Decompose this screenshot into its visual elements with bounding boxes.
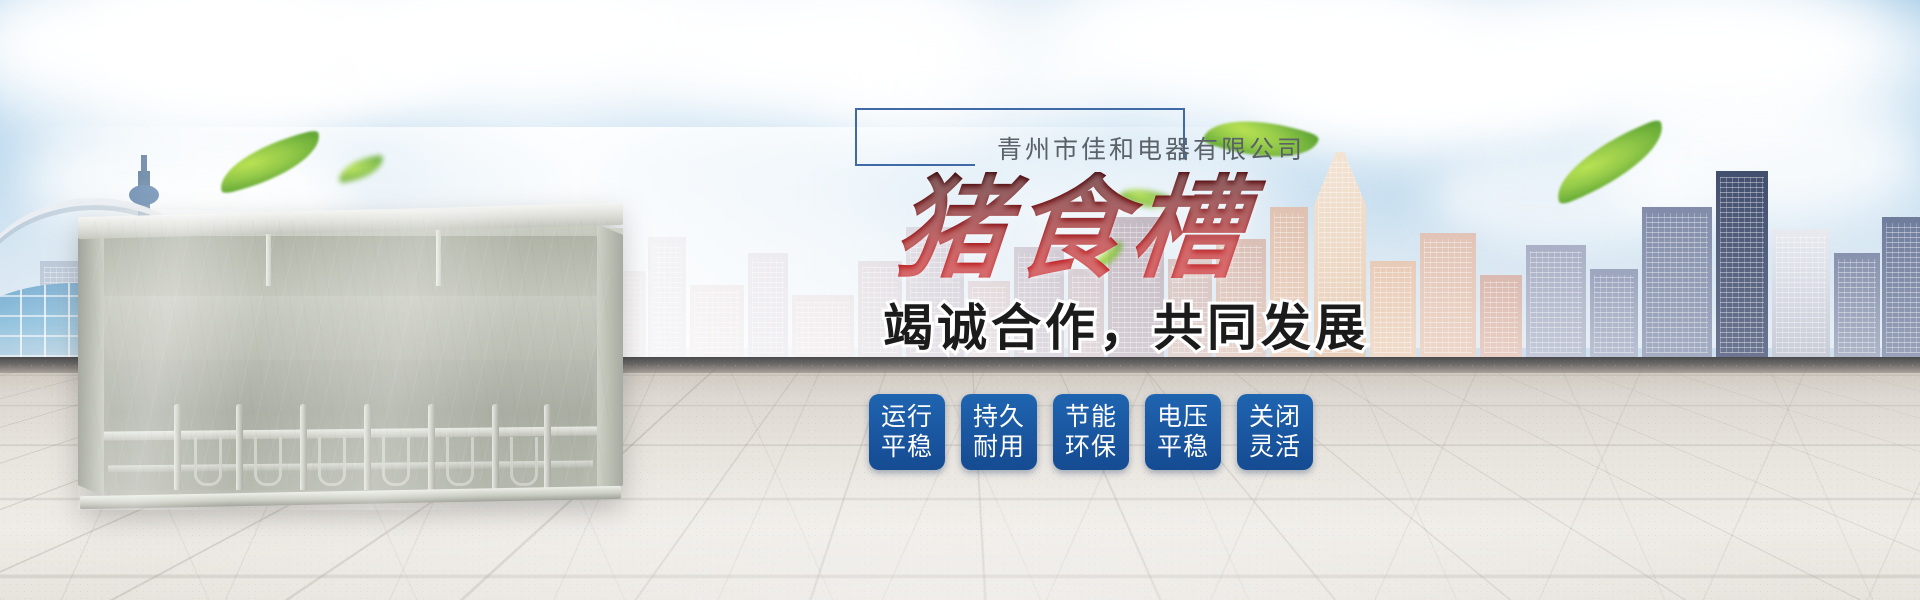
badge-line-1: 运行 [881,402,933,433]
building-silhouette [1642,207,1712,357]
feature-badge-list: 运行 平稳 持久 耐用 节能 环保 电压 平稳 关闭 灵活 [869,394,1495,470]
building-silhouette [1834,253,1880,357]
building-silhouette [1882,217,1920,357]
badge-line-2: 平稳 [881,432,933,463]
building-silhouette [748,253,788,357]
building-silhouette [690,285,744,357]
frame-left-line [855,108,857,166]
headline-title: 猪食槽 [890,172,1500,286]
trough-wire-loop [194,437,222,486]
badge-line-1: 持久 [973,402,1025,433]
subtitle-slogan: 竭诚合作，共同发展 [883,288,1495,360]
trough-slope [86,296,615,368]
trough-divider [428,404,435,490]
trough-interior [84,236,617,298]
building-silhouette [1590,269,1638,357]
trough-divider [236,404,243,490]
trough-divider [364,404,371,490]
feature-badge-3[interactable]: 节能 环保 [1053,394,1129,470]
building-silhouette [648,237,686,357]
badge-line-2: 环保 [1065,432,1117,463]
feature-badge-4[interactable]: 电压 平稳 [1145,394,1221,470]
trough-wire-loop [446,437,474,486]
building-silhouette [792,295,854,357]
building-silhouette [1716,171,1768,357]
trough-divider [492,404,499,490]
banner-copy: 青州市佳和电器有限公司 猪食槽 竭诚合作，共同发展 运行 平稳 持久 耐用 节能… [855,108,1495,470]
feature-badge-5[interactable]: 关闭 灵活 [1237,394,1313,470]
badge-line-1: 节能 [1065,402,1117,433]
feature-badge-2[interactable]: 持久 耐用 [961,394,1037,470]
trough-wire-loop [510,437,538,486]
building-silhouette [1526,245,1586,357]
trough-divider [174,404,181,490]
company-name: 青州市佳和电器有限公司 [997,130,1305,166]
trough-brace [436,226,441,286]
trough-left-wall [78,224,104,496]
trough-wire-loop [382,437,410,486]
company-name-frame: 青州市佳和电器有限公司 [855,108,1185,170]
trough-wire-loop [254,437,282,486]
building-silhouette [1772,229,1830,357]
badge-line-1: 电压 [1157,402,1209,433]
feature-badge-1[interactable]: 运行 平稳 [869,394,945,470]
frame-top-line [855,108,1185,110]
trough-wire-loop [318,437,346,486]
badge-line-2: 灵活 [1249,432,1301,463]
trough-divider [300,404,307,490]
trough-brace [266,226,271,286]
trough-divider [544,404,551,490]
badge-line-2: 耐用 [973,432,1025,463]
promo-banner: 青州市佳和电器有限公司 猪食槽 竭诚合作，共同发展 运行 平稳 持久 耐用 节能… [0,0,1920,600]
stainless-steel-feeder-trough [78,210,623,510]
badge-line-2: 平稳 [1157,432,1209,463]
badge-line-1: 关闭 [1249,402,1301,433]
trough-right-wall [597,224,623,496]
